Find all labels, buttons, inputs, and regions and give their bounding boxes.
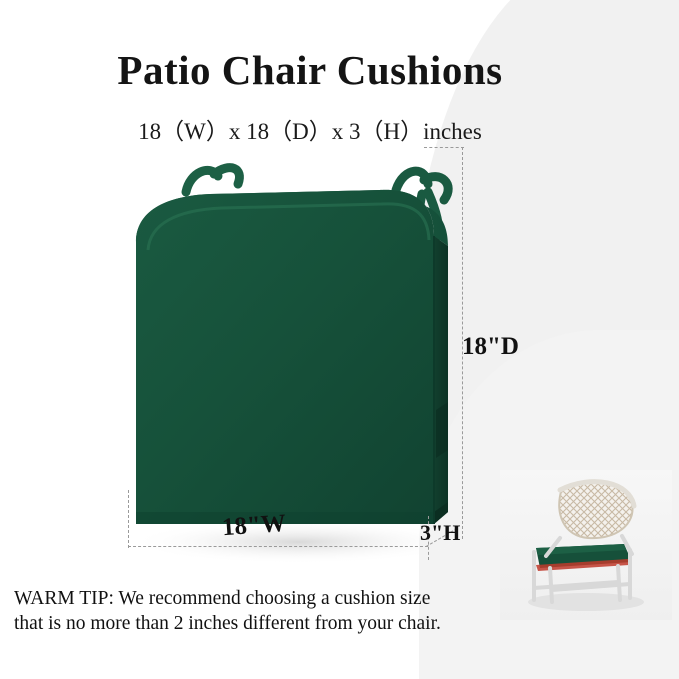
product-infographic: Patio Chair Cushions 18（W）x 18（D）x 3（H）i… [0, 0, 679, 679]
warm-tip-line-2: that is no more than 2 inches different … [14, 611, 494, 636]
warm-tip-line-1: WARM TIP: We recommend choosing a cushio… [14, 586, 494, 611]
chair-svg [500, 470, 672, 620]
dash-left-vertical [128, 490, 129, 548]
cushion-front-face [136, 190, 434, 524]
tie-strap-left [186, 168, 239, 192]
chair-shadow [528, 593, 644, 611]
cushion-shadow [128, 520, 468, 564]
dash-depth-top [424, 147, 464, 148]
depth-dimension-label: 18"D [462, 333, 519, 361]
cushion-svg [118, 150, 518, 580]
cushion-illustration [118, 150, 518, 570]
page-title: Patio Chair Cushions [0, 46, 620, 94]
cushion-right-side [434, 236, 448, 524]
warm-tip: WARM TIP: We recommend choosing a cushio… [14, 586, 494, 636]
patio-chair-photo [500, 470, 672, 620]
cushion-side-strap [436, 402, 448, 458]
dash-bottom-width [128, 546, 428, 547]
chair-backrest [559, 482, 634, 538]
page-subtitle: 18（W）x 18（D）x 3（H）inches [0, 112, 620, 146]
height-dimension-label: 3"H [420, 520, 460, 546]
width-dimension-label: 18"W [221, 510, 287, 542]
